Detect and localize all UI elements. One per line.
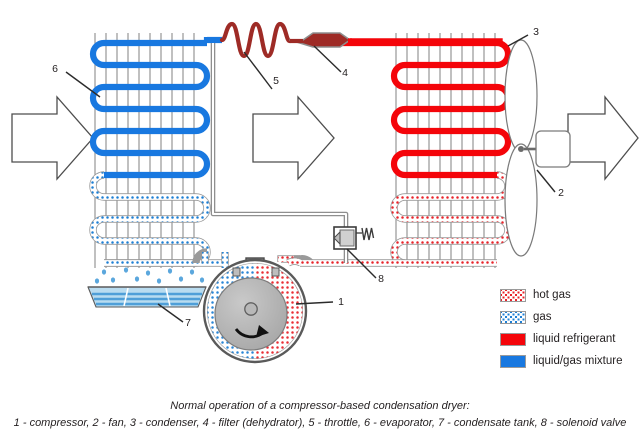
evaporator-coil-liquid-gas	[93, 43, 207, 175]
caption-line-1: Normal operation of a compressor-based c…	[0, 398, 640, 415]
compressor[interactable]	[204, 258, 306, 362]
legend-item-liquid-gas-mixture: liquid/gas mixture	[500, 352, 640, 371]
legend-label-gas: gas	[533, 311, 552, 324]
filter-dehydrator	[290, 33, 350, 47]
legend-label-liquid-refrigerant: liquid refrigerant	[533, 333, 615, 346]
caption-line-2: 1 - compressor, 2 - fan, 3 - condenser, …	[0, 415, 640, 432]
legend-label-liquid-gas-mixture: liquid/gas mixture	[533, 355, 622, 368]
evaporator-outlet-pipe	[207, 37, 222, 43]
legend-swatch-hot-gas	[500, 289, 526, 302]
callout-7: 7	[185, 317, 191, 329]
diagram-canvas: 6 5 4 3 2 1 7 8 hot gas gas liquid refri…	[0, 0, 640, 444]
callout-1: 1	[338, 296, 344, 308]
condenser-coil-liquid-refrigerant	[330, 43, 508, 175]
legend: hot gas gas liquid refrigerant liquid/ga…	[500, 286, 640, 374]
hot-gas-discharge-line	[281, 259, 405, 263]
callout-3: 3	[533, 26, 539, 38]
condensate-tank	[88, 287, 206, 307]
callout-8: 8	[378, 273, 384, 285]
throttle	[222, 24, 290, 56]
legend-item-hot-gas: hot gas	[500, 286, 640, 305]
callout-2: 2	[558, 187, 564, 199]
legend-label-hot-gas: hot gas	[533, 289, 571, 302]
outlet-air-arrow	[568, 97, 638, 179]
legend-item-liquid-refrigerant: liquid refrigerant	[500, 330, 640, 349]
solenoid-valve[interactable]	[334, 227, 374, 249]
liquid-refrigerant-line	[348, 41, 500, 43]
callout-4: 4	[342, 67, 348, 79]
figure-caption: Normal operation of a compressor-based c…	[0, 398, 640, 432]
condensate-droplets	[95, 267, 204, 283]
mid-air-arrow	[253, 97, 334, 179]
legend-item-gas: gas	[500, 308, 640, 327]
legend-swatch-liquid-refrigerant	[500, 333, 526, 346]
callout-6: 6	[52, 63, 58, 75]
inlet-air-arrow	[12, 97, 93, 179]
fan[interactable]	[505, 40, 570, 256]
callout-5: 5	[273, 75, 279, 87]
legend-swatch-liquid-gas-mixture	[500, 355, 526, 368]
gas-suction-line	[104, 252, 225, 268]
legend-swatch-gas	[500, 311, 526, 324]
